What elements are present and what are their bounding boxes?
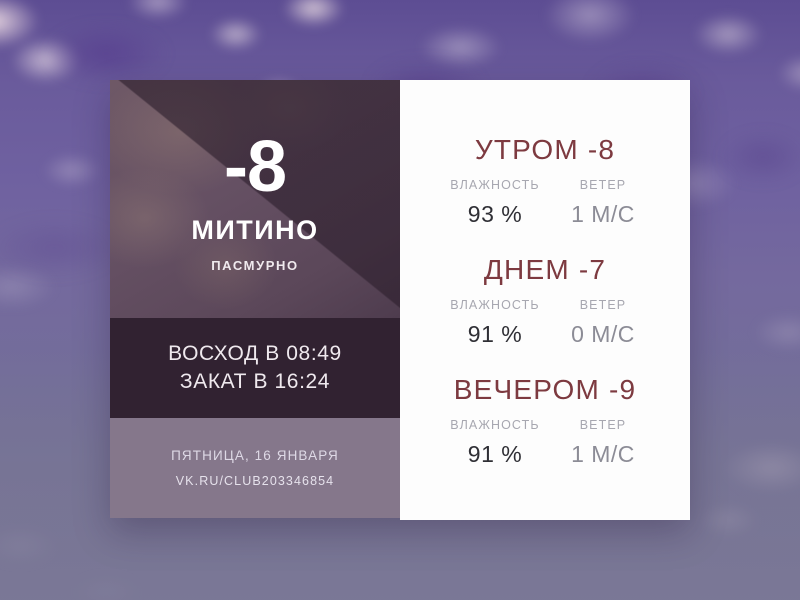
card-footer: ПЯТНИЦА, 16 ЯНВАРЯ VK.RU/CLUB203346854 xyxy=(110,418,400,518)
forecast-slot-day: ДНЕМ -7 ВЛАЖНОСТЬ ВЕТЕР 91 % 0 М/С xyxy=(400,254,690,348)
sunrise-text: ВОСХОД В 08:49 xyxy=(168,342,342,366)
humidity-label: ВЛАЖНОСТЬ xyxy=(437,178,553,192)
humidity-value: 93 % xyxy=(437,201,553,228)
wind-value: 0 М/С xyxy=(553,321,653,348)
forecast-slot-title: ДНЕМ -7 xyxy=(484,254,606,286)
forecast-metric-values: 91 % 0 М/С xyxy=(437,321,653,348)
current-conditions-panel: -8 МИТИНО ПАСМУРНО xyxy=(110,80,400,318)
wind-value: 1 М/С xyxy=(553,201,653,228)
wind-label: ВЕТЕР xyxy=(553,178,653,192)
forecast-slot-title: ВЕЧЕРОМ -9 xyxy=(454,374,637,406)
weather-card: -8 МИТИНО ПАСМУРНО ВОСХОД В 08:49 ЗАКАТ … xyxy=(110,80,690,518)
humidity-label: ВЛАЖНОСТЬ xyxy=(437,418,553,432)
wind-value: 1 М/С xyxy=(553,441,653,468)
sunrise-sunset-panel: ВОСХОД В 08:49 ЗАКАТ В 16:24 xyxy=(110,318,400,418)
forecast-slot-morning: УТРОМ -8 ВЛАЖНОСТЬ ВЕТЕР 93 % 1 М/С xyxy=(400,134,690,228)
humidity-value: 91 % xyxy=(437,321,553,348)
wind-label: ВЕТЕР xyxy=(553,298,653,312)
wind-label: ВЕТЕР xyxy=(553,418,653,432)
forecast-slot-evening: ВЕЧЕРОМ -9 ВЛАЖНОСТЬ ВЕТЕР 91 % 1 М/С xyxy=(400,374,690,468)
forecast-metric-labels: ВЛАЖНОСТЬ ВЕТЕР xyxy=(437,298,653,312)
forecast-slot-title: УТРОМ -8 xyxy=(475,134,615,166)
forecast-metric-values: 93 % 1 М/С xyxy=(437,201,653,228)
current-temperature: -8 xyxy=(224,133,286,202)
weather-widget-screen: -8 МИТИНО ПАСМУРНО ВОСХОД В 08:49 ЗАКАТ … xyxy=(0,0,800,600)
current-date: ПЯТНИЦА, 16 ЯНВАРЯ xyxy=(171,448,339,463)
weather-condition: ПАСМУРНО xyxy=(211,258,299,273)
city-name: МИТИНО xyxy=(191,215,318,246)
source-link[interactable]: VK.RU/CLUB203346854 xyxy=(176,474,335,488)
forecast-metric-labels: ВЛАЖНОСТЬ ВЕТЕР xyxy=(437,178,653,192)
sunset-text: ЗАКАТ В 16:24 xyxy=(180,370,330,394)
weather-card-left-column: -8 МИТИНО ПАСМУРНО ВОСХОД В 08:49 ЗАКАТ … xyxy=(110,80,400,518)
humidity-value: 91 % xyxy=(437,441,553,468)
forecast-metric-labels: ВЛАЖНОСТЬ ВЕТЕР xyxy=(437,418,653,432)
humidity-label: ВЛАЖНОСТЬ xyxy=(437,298,553,312)
forecast-panel: УТРОМ -8 ВЛАЖНОСТЬ ВЕТЕР 93 % 1 М/С ДНЕМ… xyxy=(400,80,690,520)
forecast-metric-values: 91 % 1 М/С xyxy=(437,441,653,468)
